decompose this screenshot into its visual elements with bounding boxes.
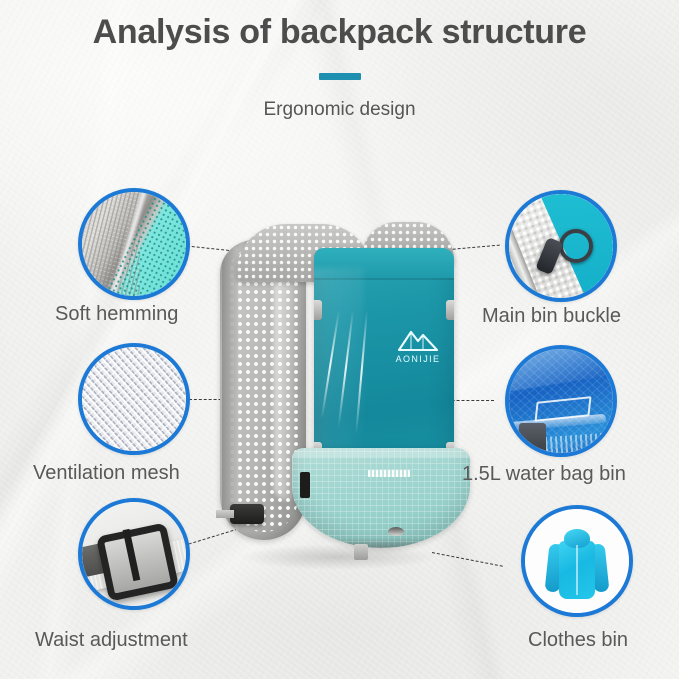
callout-label-water-bag-bin: 1.5L water bag bin [462,463,626,486]
callout-label-clothes-bin: Clothes bin [528,629,628,652]
callout-circle-ventilation-mesh[interactable] [78,343,190,455]
main-compartment-panel: AONIJIE [314,248,454,478]
callout-label-main-bin-buckle: Main bin buckle [482,305,621,328]
ripstop-grid-texture [292,448,470,548]
strap-clip [314,300,322,320]
callout-circle-soft-hemming[interactable] [78,188,190,300]
mountain-logo-icon [396,326,440,352]
callout-circle-water-bag-bin[interactable] [505,345,617,457]
front-ripstop-pocket [292,448,470,548]
water-bag-bin-photo [509,349,613,453]
clothes-bin-photo [525,509,629,613]
infographic-canvas: Analysis of backpack structure Ergonomic… [0,0,679,679]
jacket-illustration [545,527,609,599]
pocket-print-label [368,470,410,477]
waist-adjustment-photo [82,502,186,606]
panel-rim [222,244,238,538]
callout-circle-main-bin-buckle[interactable] [505,190,617,302]
waist-buckle-on-pack [230,504,264,524]
soft-hemming-photo [82,192,186,296]
side-label-tag [300,472,310,498]
page-title: Analysis of backpack structure [0,13,679,52]
main-bin-buckle-photo [509,194,613,298]
callout-label-waist-adjustment: Waist adjustment [35,629,188,652]
pocket-hem [292,448,470,457]
brand-name: AONIJIE [386,354,450,364]
callout-circle-clothes-bin[interactable] [521,505,633,617]
drain-grommet [388,527,404,536]
pocket-bottom-edge [292,538,470,548]
callout-label-ventilation-mesh: Ventilation mesh [33,462,180,485]
bottom-strap [354,544,368,560]
backpack-product-image: AONIJIE [214,222,470,582]
page-subtitle: Ergonomic design [0,99,679,121]
ventilation-mesh-photo [82,347,186,451]
panel-accent-lines [338,310,384,430]
strap-clip [446,300,454,320]
callout-circle-waist-adjustment[interactable] [78,498,190,610]
title-divider [319,73,361,80]
callout-label-soft-hemming: Soft hemming [55,303,178,326]
brand-mark: AONIJIE [386,326,450,364]
